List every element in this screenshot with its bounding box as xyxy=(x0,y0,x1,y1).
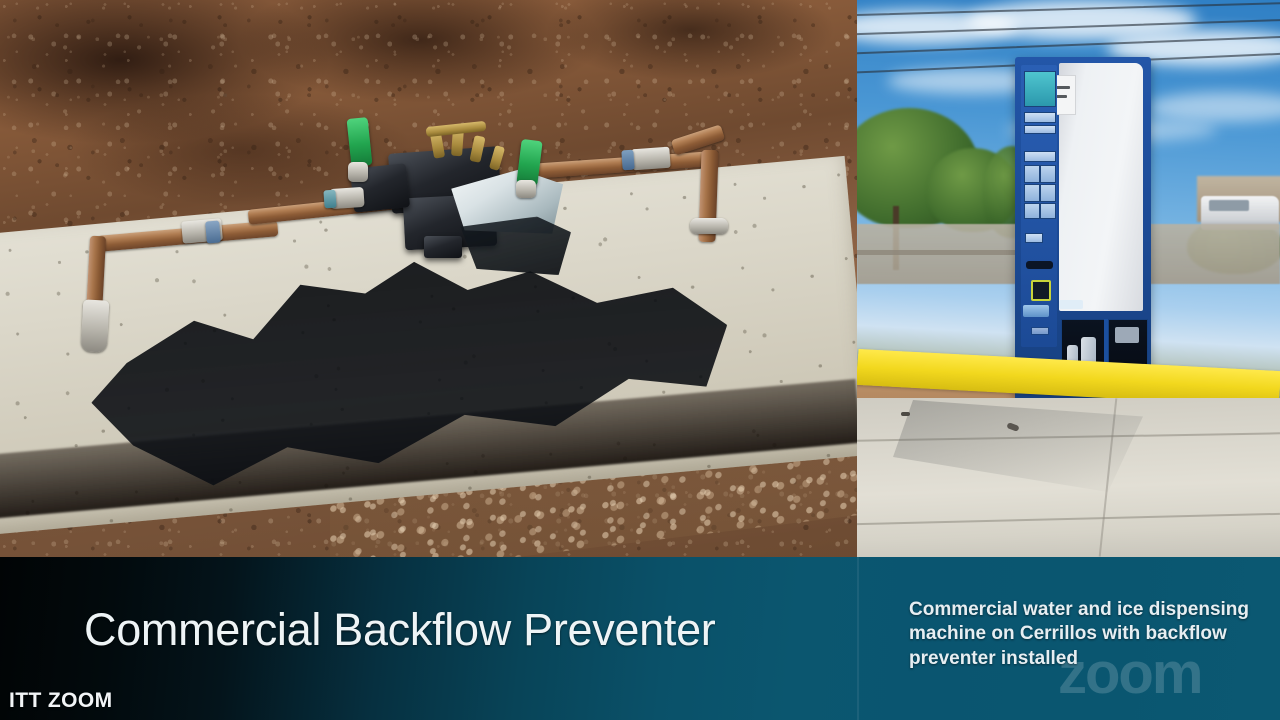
coin-slot[interactable] xyxy=(1026,261,1053,269)
backflow-preventer-relief-port xyxy=(424,236,462,258)
sidewalk-debris-1 xyxy=(901,412,910,416)
vending-machine-photo xyxy=(857,0,1280,557)
selection-button-4[interactable] xyxy=(1040,184,1056,202)
union-fitting-right-collar xyxy=(621,150,634,171)
slide-sub-caption: Commercial water and ice dispensing mach… xyxy=(909,598,1249,671)
pipe-cap-left xyxy=(81,299,110,352)
valve-stem-left xyxy=(348,162,368,182)
instruction-strip xyxy=(1025,233,1043,243)
union-fitting-mid xyxy=(205,220,221,243)
valve-outlet-collar xyxy=(323,190,336,209)
machine-display-screen xyxy=(1024,71,1056,107)
selection-button-3[interactable] xyxy=(1024,184,1040,202)
selection-button-1[interactable] xyxy=(1024,165,1040,183)
slide-title: Commercial Backflow Preventer xyxy=(84,604,716,656)
cloud-5 xyxy=(1147,92,1280,122)
presentation-slide: zoom Commercial Backflow Preventer Comme… xyxy=(0,0,1280,720)
card-reader[interactable] xyxy=(1031,280,1051,301)
water-ice-vending-machine xyxy=(1015,57,1151,405)
selection-header-strip xyxy=(1024,151,1056,162)
selection-button-6[interactable] xyxy=(1040,203,1056,219)
sidewalk-seam-2 xyxy=(857,513,1280,525)
participant-name-label: ITT ZOOM xyxy=(9,689,113,713)
riser-collar-right xyxy=(690,218,728,234)
machine-brand-badge xyxy=(1023,305,1049,317)
machine-shadow xyxy=(893,400,1143,492)
price-label-strip-2 xyxy=(1024,125,1056,134)
ice-chute-nozzle xyxy=(1115,327,1139,343)
concrete-sidewalk xyxy=(857,398,1280,557)
backflow-preventer-photo xyxy=(0,0,857,557)
union-fitting-right xyxy=(631,147,670,171)
selection-button-5[interactable] xyxy=(1024,203,1040,219)
valve-stem-right xyxy=(516,180,536,198)
price-label-strip-1 xyxy=(1024,112,1056,123)
suv-window xyxy=(1209,200,1249,211)
selection-button-2[interactable] xyxy=(1040,165,1056,183)
machine-logo-badge xyxy=(1059,300,1083,309)
footer-label-strip xyxy=(1031,327,1049,335)
banner-divider xyxy=(857,557,859,720)
